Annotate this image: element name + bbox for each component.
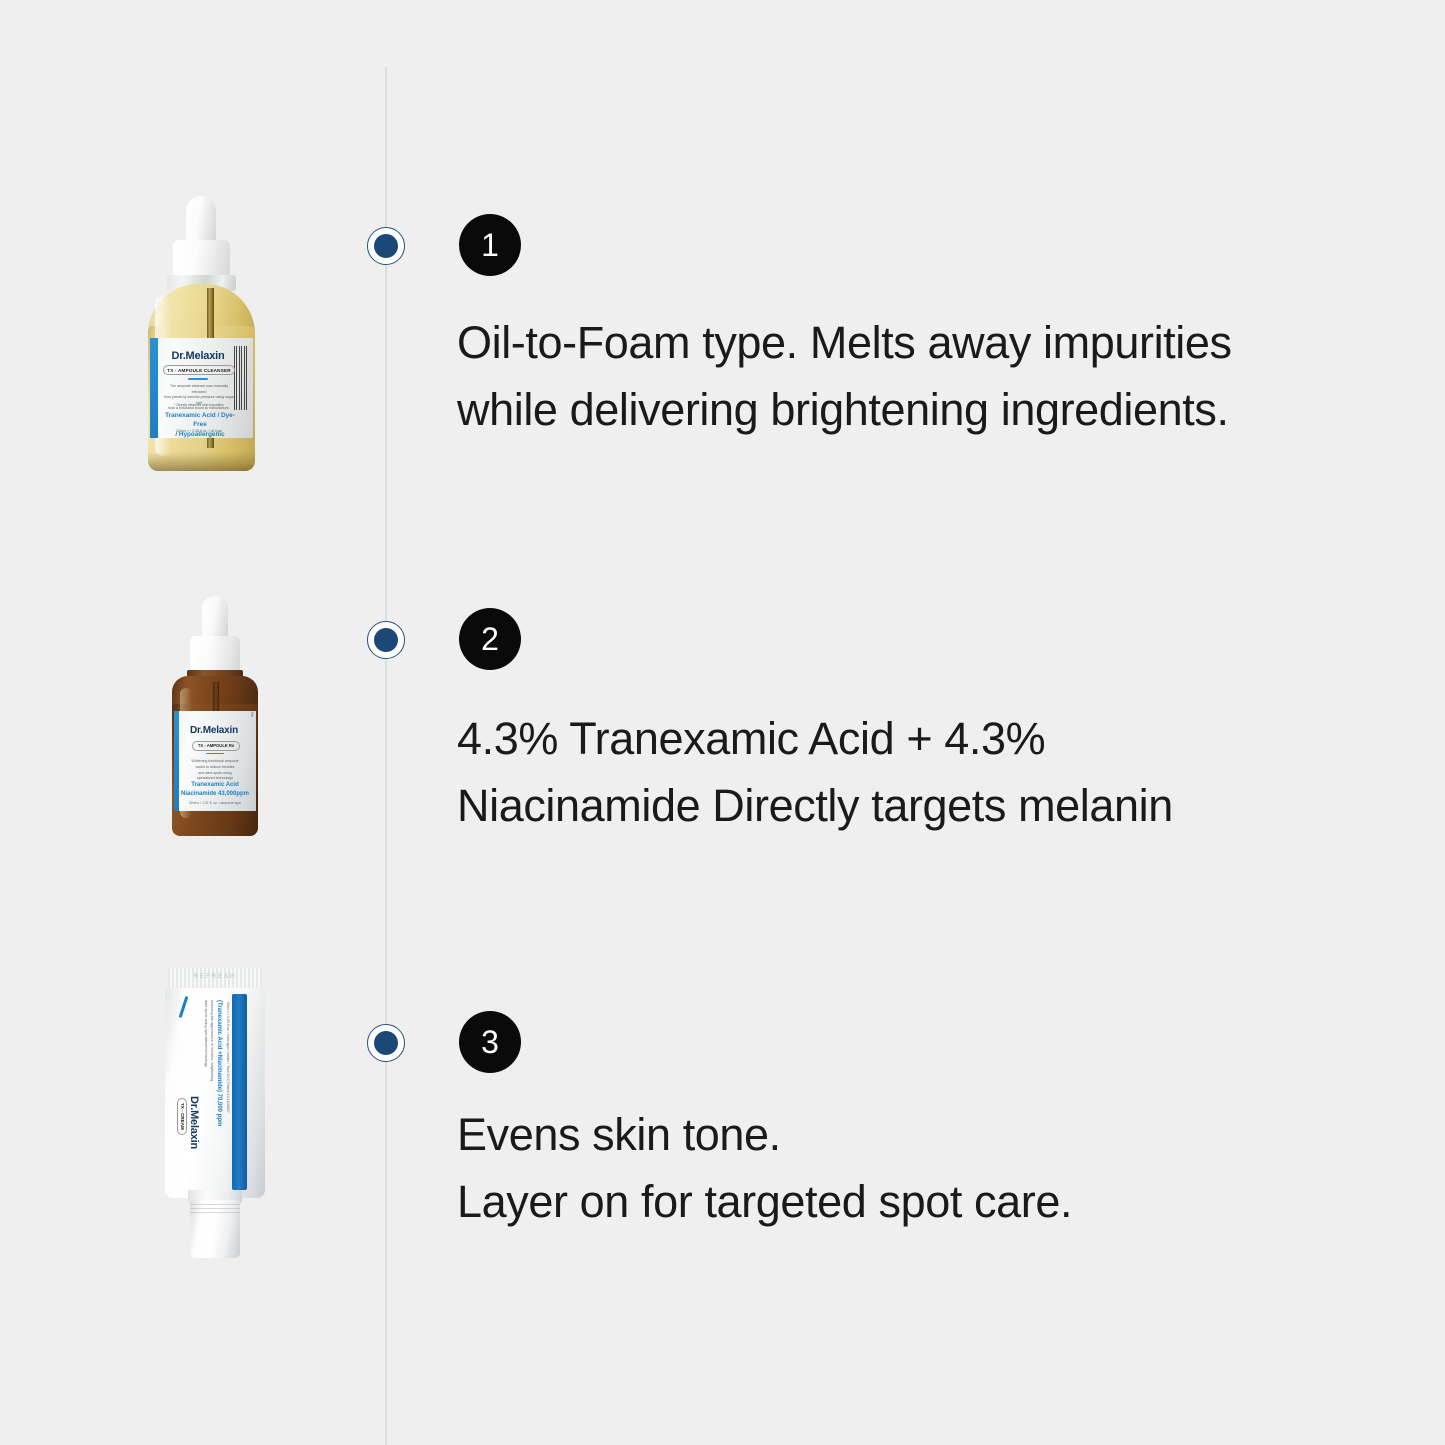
label-claim: Tranexamic Acid Niacinamide 43,000ppm [180, 781, 250, 798]
label-volume: 50ml ℮ / 1.69 fl.oz. / tube type / cream… [226, 1002, 230, 1113]
step-text-3: Evens skin tone. Layer on for targeted s… [457, 1102, 1257, 1235]
label-subtitle: TX - AMPOULE CLEANSER [163, 365, 235, 375]
label-claim: (Tranexamic Acid +Niacinamide) 70,000 pp… [216, 1000, 222, 1126]
label-volume: 100ml ℮ / 3.38 fl.oz. / oil type [162, 429, 236, 433]
label-fine-print: Whitening functional ampoule works to re… [182, 759, 248, 782]
label-divider [188, 378, 208, 380]
timeline-dot-2 [367, 621, 405, 659]
tube-crimp-text: REFRESH [168, 974, 262, 980]
step-badge-2: 2 [459, 608, 521, 670]
tube-body-icon [165, 988, 265, 1198]
barcode-icon [234, 346, 248, 410]
timeline-dot-1 [367, 227, 405, 265]
label-brand: Dr.Melaxin [182, 725, 246, 736]
label-fine-print-line2: dark spots using specialized technology [204, 1000, 208, 1067]
timeline-dot-3 [367, 1024, 405, 1062]
label-divider [206, 753, 224, 754]
product-label-tx-ampoule-cleanser: Dr.Melaxin TX - AMPOULE CLEANSER The amp… [150, 338, 253, 438]
label-blue-bar [174, 711, 179, 811]
label-side-text: TRANEXAMIC ACID AMPOULE Rx [250, 711, 254, 717]
step-badge-3: 3 [459, 1011, 521, 1073]
product-image-tx-cream: REFRESH Dr.Melaxin TX - CREAM reducing t… [160, 968, 270, 1258]
infographic-page: 1 Oil-to-Foam type. Melts away impuritie… [0, 0, 1445, 1445]
step-badge-1: 1 [459, 214, 521, 276]
timeline-vertical-line [385, 67, 387, 1445]
label-note: * Deeply cleanses skin impurities [162, 403, 236, 407]
label-claim: Tranexamic Acid / Dye-Free / Hypoallerge… [160, 411, 240, 438]
label-fine-print-line1: reducing the appearance of freckles, bri… [208, 1000, 214, 1081]
product-image-tx-ampoule-rx: Dr.Melaxin TX - AMPOULE Rx Whitening fun… [160, 596, 280, 836]
label-subtitle: TX - CREAM [177, 1098, 187, 1135]
tube-cap-ridges-icon [190, 1204, 240, 1216]
step-text-2: 4.3% Tranexamic Acid + 4.3% Niacinamide … [457, 706, 1287, 839]
tube-blue-stripe [232, 994, 247, 1190]
label-brand: Dr.Melaxin [162, 350, 234, 362]
product-image-tx-ampoule-cleanser: Dr.Melaxin TX - AMPOULE CLEANSER The amp… [141, 196, 281, 471]
product-label-tx-ampoule-rx: Dr.Melaxin TX - AMPOULE Rx Whitening fun… [174, 711, 256, 811]
dropper-cap-collar-icon [190, 636, 240, 674]
label-volume: 30ml ℮ / 1.01 fl. oz. / ampoule type [182, 801, 248, 805]
bottle-bottom-shading-icon [148, 452, 255, 471]
label-blue-bar [150, 338, 158, 438]
dropper-cap-collar-icon [173, 240, 230, 278]
label-brand: Dr.Melaxin [188, 1096, 200, 1149]
step-text-1: Oil-to-Foam type. Melts away impurities … [457, 310, 1327, 443]
label-fine-print: The ampoule cleanser was manually extrac… [162, 384, 236, 412]
label-subtitle: TX - AMPOULE Rx [192, 741, 240, 751]
